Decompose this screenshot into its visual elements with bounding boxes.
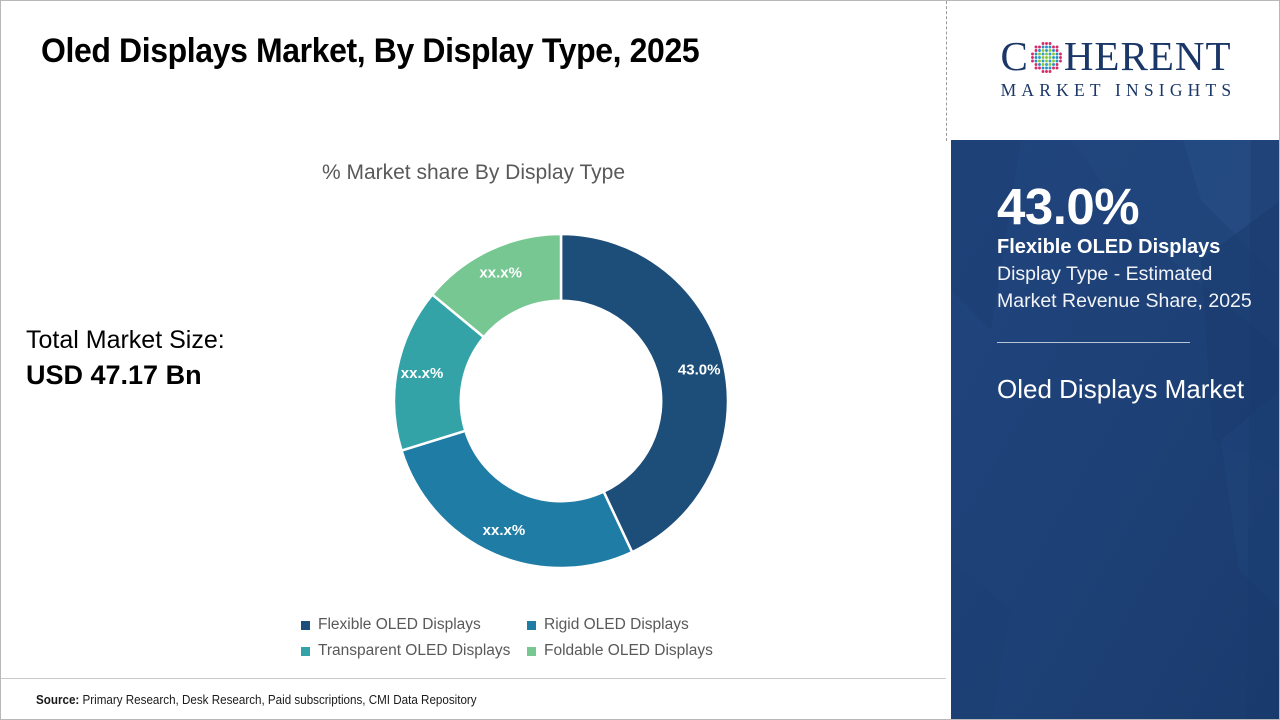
- source-text: Primary Research, Desk Research, Paid su…: [79, 693, 476, 707]
- total-market-size-label: Total Market Size:: [26, 323, 225, 357]
- brand-logo-inner: C HERENT MARKET INSIGHTS: [996, 36, 1237, 101]
- donut-chart: 43.0%xx.x%xx.x%xx.x%: [391, 231, 731, 571]
- brand-logo: C HERENT MARKET INSIGHTS: [951, 1, 1280, 140]
- infographic-page: Oled Displays Market, By Display Type, 2…: [0, 0, 1280, 720]
- legend-swatch-icon: [301, 621, 310, 630]
- donut-slice-label: xx.x%: [401, 365, 444, 382]
- page-title: Oled Displays Market, By Display Type, 2…: [41, 32, 699, 71]
- panel-stat-description: Display Type - Estimated Market Revenue …: [997, 261, 1263, 316]
- legend-swatch-icon: [527, 621, 536, 630]
- total-market-size-value: USD 47.17 Bn: [26, 357, 225, 393]
- footer-divider: [1, 678, 946, 679]
- donut-slice-label: xx.x%: [479, 264, 522, 281]
- brand-logo-tagline: MARKET INSIGHTS: [996, 80, 1237, 101]
- main-content-area: Oled Displays Market, By Display Type, 2…: [1, 1, 946, 719]
- donut-slice[interactable]: [402, 431, 633, 568]
- donut-slice-label: 43.0%: [678, 362, 721, 379]
- chart-subtitle: % Market share By Display Type: [1, 161, 946, 185]
- panel-dashed-divider: [946, 1, 947, 141]
- legend-item-flexible-oled-displays[interactable]: Flexible OLED Displays: [301, 616, 527, 634]
- panel-divider: [997, 342, 1190, 343]
- legend-label: Flexible OLED Displays: [318, 616, 481, 634]
- panel-stat-label: Flexible OLED Displays: [997, 235, 1263, 260]
- highlight-side-panel: 43.0% Flexible OLED Displays Display Typ…: [951, 140, 1280, 719]
- legend-item-foldable-oled-displays[interactable]: Foldable OLED Displays: [527, 642, 821, 660]
- panel-market-name: Oled Displays Market: [997, 371, 1263, 408]
- chart-legend: Flexible OLED Displays Rigid OLED Displa…: [301, 616, 821, 660]
- brand-logo-word-start: C: [1000, 36, 1028, 77]
- total-market-size-block: Total Market Size: USD 47.17 Bn: [26, 323, 225, 393]
- legend-item-rigid-oled-displays[interactable]: Rigid OLED Displays: [527, 616, 821, 634]
- brand-logo-wordmark: C HERENT: [996, 36, 1237, 77]
- legend-label: Foldable OLED Displays: [544, 642, 713, 660]
- legend-item-transparent-oled-displays[interactable]: Transparent OLED Displays: [301, 642, 527, 660]
- donut-slice-label: xx.x%: [483, 522, 526, 539]
- donut-slices: [394, 234, 728, 568]
- side-panel-content: 43.0% Flexible OLED Displays Display Typ…: [997, 180, 1263, 408]
- source-line: Source: Primary Research, Desk Research,…: [36, 693, 477, 707]
- legend-label: Rigid OLED Displays: [544, 616, 689, 634]
- legend-swatch-icon: [527, 647, 536, 656]
- brand-logo-word-end: HERENT: [1064, 36, 1232, 77]
- donut-chart-svg: 43.0%xx.x%xx.x%xx.x%: [391, 231, 731, 571]
- panel-stat-value: 43.0%: [997, 180, 1263, 233]
- source-label: Source:: [36, 693, 79, 707]
- legend-label: Transparent OLED Displays: [318, 642, 510, 660]
- legend-swatch-icon: [301, 647, 310, 656]
- globe-dots-icon: [1030, 40, 1063, 73]
